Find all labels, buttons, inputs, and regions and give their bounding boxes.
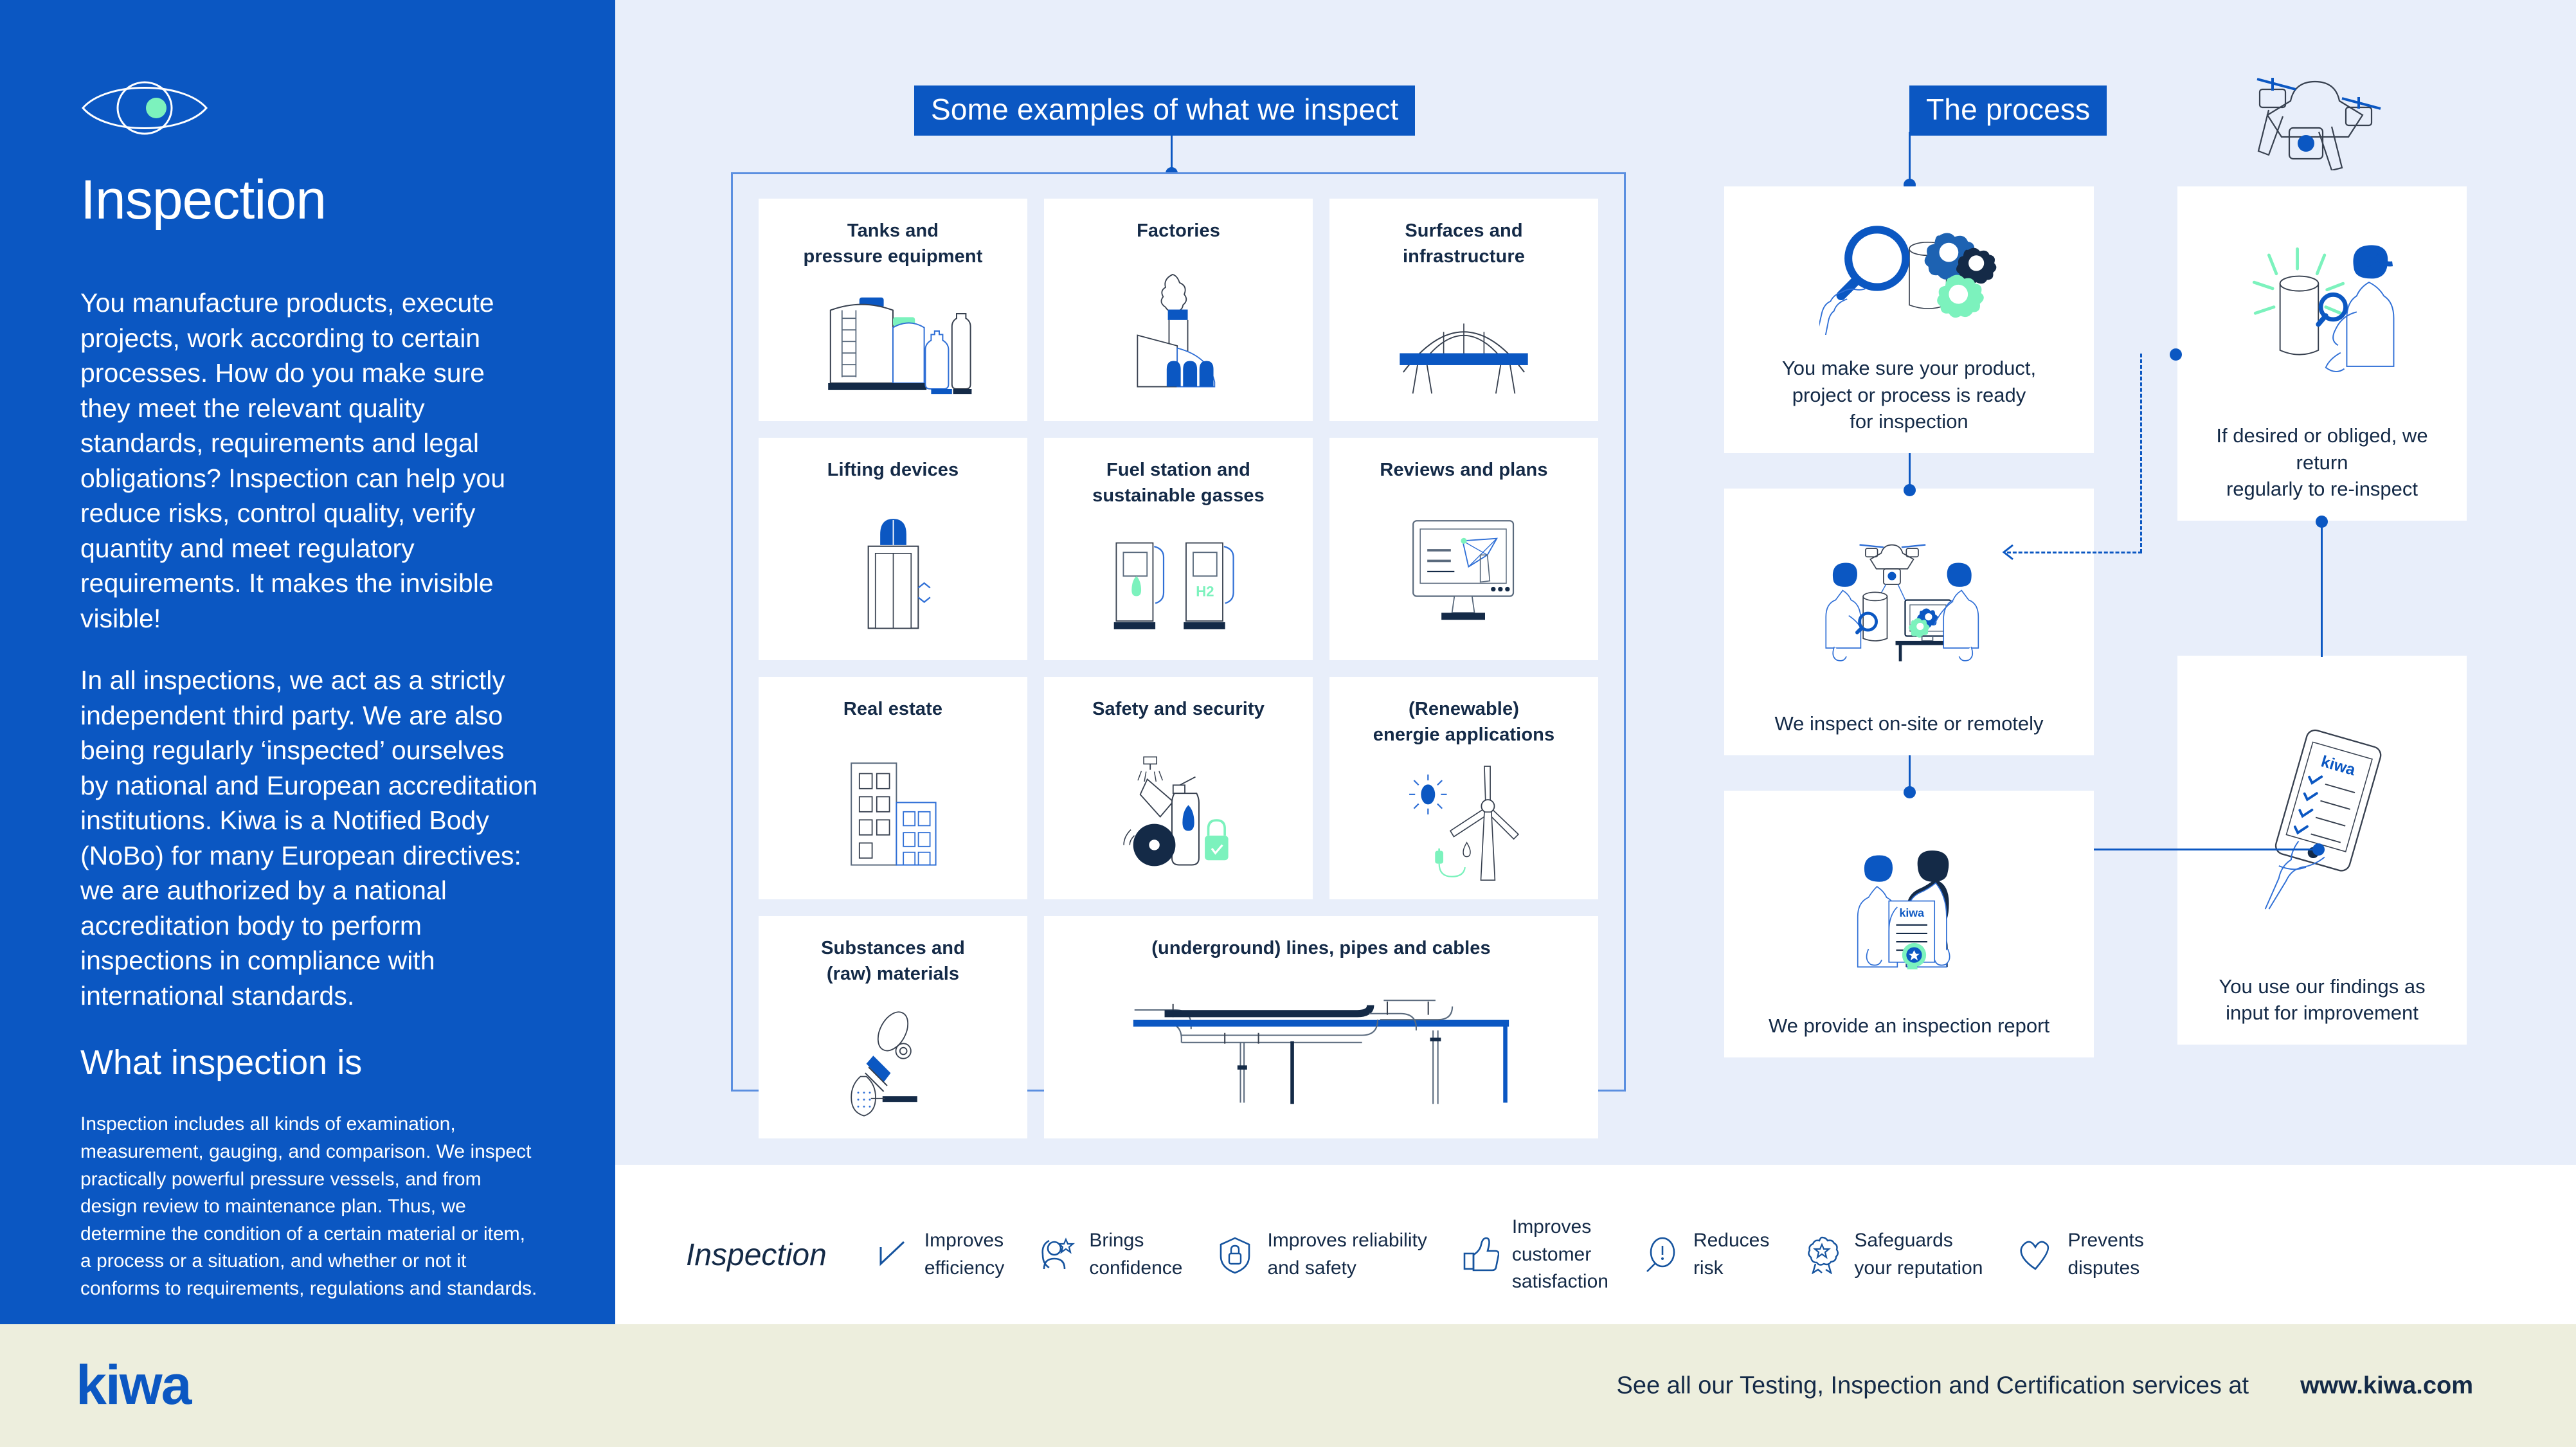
benefit-label: Safeguards your reputation — [1854, 1227, 1983, 1282]
kiwa-logo: kiwa — [76, 1356, 237, 1416]
benefit-label: Brings confidence — [1089, 1227, 1182, 1282]
re-inspect-icon — [2192, 201, 2453, 417]
connector-process — [1909, 132, 1911, 185]
process-step-1[interactable]: You make sure your product, project or p… — [1724, 186, 2094, 453]
process-step-2[interactable]: We inspect on-site or remotely — [1724, 489, 2094, 755]
card-title: (Renewable) energie applications — [1373, 696, 1554, 748]
process-step-caption: We inspect on-site or remotely — [1774, 705, 2043, 737]
inspection-report-icon: kiwa — [1738, 805, 2080, 1007]
benefit-brings-confidence[interactable]: Brings confidence — [1038, 1227, 1182, 1282]
microscope-icon — [759, 987, 1027, 1138]
example-card-reviews[interactable]: Reviews and plans — [1329, 438, 1598, 660]
heart-icon — [2016, 1236, 2055, 1274]
what-inspection-is-paragraph: Inspection includes all kinds of examina… — [80, 1111, 538, 1302]
benefit-label: Improves efficiency — [924, 1227, 1005, 1282]
benefit-label: Improves reliability and safety — [1267, 1227, 1427, 1282]
card-title: Substances and (raw) materials — [821, 935, 965, 987]
shield-lock-icon — [1216, 1236, 1254, 1274]
examples-grid-panel: Tanks and pressure equipment — [731, 172, 1626, 1092]
factory-icon — [1044, 244, 1313, 421]
example-card-surfaces[interactable]: Surfaces and infrastructure — [1329, 199, 1598, 421]
arrow-head-icon — [1997, 543, 2019, 561]
sidebar-subheading: What inspection is — [80, 1043, 538, 1083]
storage-tanks-icon — [759, 269, 1027, 421]
connector-dot-step3 — [1904, 786, 1916, 798]
benefit-prevents-disputes[interactable]: Prevents disputes — [2016, 1227, 2143, 1282]
award-ribbon-icon — [1803, 1236, 1841, 1274]
onsite-remote-inspection-icon — [1738, 503, 2080, 705]
card-title: Lifting devices — [827, 457, 959, 483]
benefit-label: Improves customer satisfaction — [1512, 1214, 1608, 1296]
card-title: Fuel station and sustainable gasses — [1092, 457, 1265, 508]
footer: kiwa See all our Testing, Inspection and… — [0, 1324, 2576, 1447]
example-card-renewable[interactable]: (Renewable) energie applications — [1329, 677, 1598, 899]
card-title: Reviews and plans — [1380, 457, 1547, 483]
benefit-improves-customer-satisfaction[interactable]: Improves customer satisfaction — [1461, 1214, 1608, 1296]
buildings-icon — [759, 722, 1027, 899]
bridge-icon — [1329, 269, 1598, 421]
example-card-lifting[interactable]: Lifting devices — [759, 438, 1027, 660]
tablet-checklist-icon: kiwa — [2192, 670, 2453, 968]
card-title: Real estate — [843, 696, 942, 722]
process-step-4[interactable]: If desired or obliged, we return regular… — [2177, 186, 2467, 521]
main-stage: Some examples of what we inspect Tanks a… — [615, 0, 2576, 1165]
examples-section-label: Some examples of what we inspect — [914, 85, 1415, 136]
connector-dot-step2 — [1904, 484, 1916, 496]
intro-paragraph-2: In all inspections, we act as a strictly… — [80, 663, 538, 1013]
wind-turbine-icon — [1329, 748, 1598, 899]
warning-magnifier-icon — [1642, 1236, 1680, 1274]
pipeline-icon — [1044, 961, 1598, 1138]
elevator-icon — [759, 483, 1027, 660]
process-step-3[interactable]: kiwa We provide an inspection report — [1724, 791, 2094, 1057]
magnifier-gears-icon — [1738, 201, 2080, 350]
intro-paragraph-1: You manufacture products, execute projec… — [80, 285, 538, 636]
benefit-label: Prevents disputes — [2067, 1227, 2143, 1282]
svg-text:H2: H2 — [1196, 583, 1214, 599]
svg-text:kiwa: kiwa — [76, 1356, 193, 1416]
process-step-caption: You make sure your product, project or p… — [1782, 350, 2036, 435]
benefits-title: Inspection — [686, 1237, 827, 1273]
sidebar: Inspection You manufacture products, exe… — [0, 0, 615, 1324]
benefit-safeguards-reputation[interactable]: Safeguards your reputation — [1803, 1227, 1983, 1282]
connector-step3-step5 — [2094, 849, 2318, 850]
example-card-pipes[interactable]: (underground) lines, pipes and cables — [1044, 916, 1598, 1138]
monitor-cad-icon — [1329, 483, 1598, 660]
connector-step4-step5 — [2321, 521, 2323, 657]
svg-text:kiwa: kiwa — [1899, 906, 1924, 919]
card-title: Safety and security — [1092, 696, 1265, 722]
page-title: Inspection — [80, 172, 538, 228]
process-step-caption: We provide an inspection report — [1769, 1007, 2049, 1039]
connector-dot-step4-bottom — [2316, 516, 2328, 528]
card-title: (underground) lines, pipes and cables — [1151, 935, 1490, 961]
fuel-pump-icon: H2 — [1044, 508, 1313, 660]
thumbs-up-icon — [1461, 1236, 1499, 1274]
benefits-strip: Inspection Improves efficiency Brings co… — [615, 1165, 2576, 1345]
connector-dashed-return-horizontal — [2007, 552, 2142, 553]
footer-url[interactable]: www.kiwa.com — [2300, 1372, 2473, 1399]
benefit-reduces-risk[interactable]: Reduces risk — [1642, 1227, 1769, 1282]
connector-dot-step4-left — [2170, 348, 2182, 361]
check-growth-icon — [873, 1236, 912, 1274]
benefit-improves-reliability[interactable]: Improves reliability and safety — [1216, 1227, 1427, 1282]
process-step-caption: If desired or obliged, we return regular… — [2192, 417, 2453, 503]
examples-grid: Tanks and pressure equipment — [759, 199, 1598, 1065]
process-step-caption: You use our findings as input for improv… — [2219, 968, 2425, 1027]
person-star-icon — [1038, 1236, 1076, 1274]
benefit-label: Reduces risk — [1693, 1227, 1769, 1282]
footer-text: See all our Testing, Inspection and Cert… — [1616, 1372, 2249, 1399]
example-card-fuel[interactable]: Fuel station and sustainable gasses H2 — [1044, 438, 1313, 660]
example-card-real-estate[interactable]: Real estate — [759, 677, 1027, 899]
card-title: Factories — [1137, 218, 1220, 244]
card-title: Surfaces and infrastructure — [1403, 218, 1525, 269]
fire-safety-icon — [1044, 722, 1313, 899]
drone-icon — [2229, 61, 2402, 170]
example-card-substances[interactable]: Substances and (raw) materials — [759, 916, 1027, 1138]
eye-icon — [80, 77, 209, 139]
benefit-improves-efficiency[interactable]: Improves efficiency — [873, 1227, 1005, 1282]
connector-dashed-return-vertical — [2140, 354, 2142, 553]
process-section-label: The process — [1909, 85, 2107, 136]
example-card-safety[interactable]: Safety and security — [1044, 677, 1313, 899]
card-title: Tanks and pressure equipment — [804, 218, 983, 269]
benefits-list: Improves efficiency Brings confidence Im… — [873, 1214, 2144, 1296]
connector-dot-step5 — [2312, 843, 2325, 856]
example-card-factories[interactable]: Factories — [1044, 199, 1313, 421]
example-card-tanks[interactable]: Tanks and pressure equipment — [759, 199, 1027, 421]
